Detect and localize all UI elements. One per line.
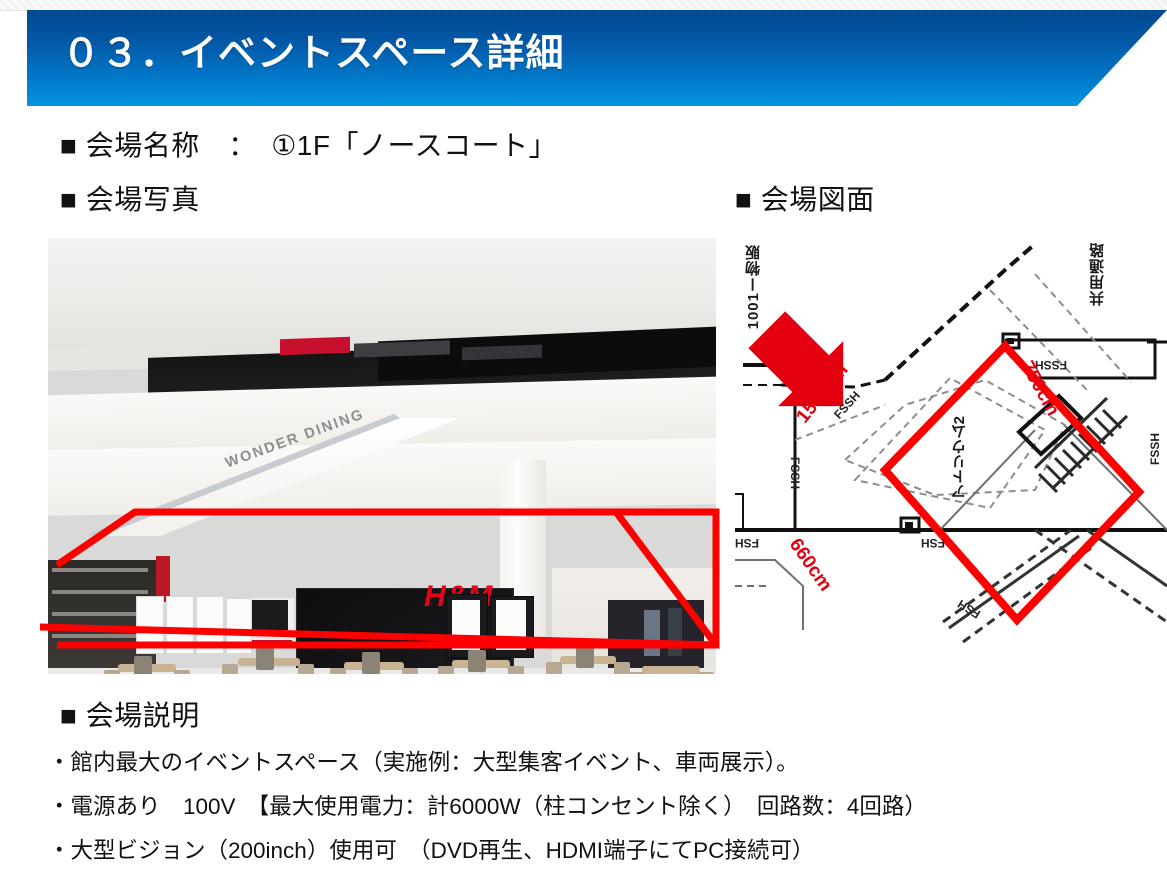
plan-label-common-corridor: 共用通路 xyxy=(1087,242,1108,306)
venue-name-row: ■ 会場名称 ： ①1F「ノースコート」 xyxy=(60,124,557,164)
page-title: ０３．イベントスペース詳細 xyxy=(62,22,564,77)
venue-floor-plan: 1001ー物販 共用通路 アトリウム2 FSSH FSSH FSSH FSSH … xyxy=(735,230,1167,700)
description-line-1: ・館内最大のイベントスペース（実施例：大型集客イベント、車両展示）。 xyxy=(48,745,799,777)
description-line-2: ・電源あり 100V 【最大使用電力：計6000W（柱コンセント除く） 回路数：… xyxy=(48,789,927,821)
plan-label-fsh-3: FSH xyxy=(735,536,759,550)
venue-photo: WONDER DINING H&M xyxy=(48,238,716,674)
plan-label-fssh-4: FSSH xyxy=(1148,433,1162,465)
plan-section-heading: ■ 会場図面 xyxy=(735,178,875,218)
photo-section-heading: ■ 会場写真 xyxy=(60,178,200,218)
plan-label-tenant-1001: 1001ー物販 xyxy=(743,244,764,329)
description-line-3: ・大型ビジョン（200inch）使用可 （DVD再生、HDMI端子にてPC接続可… xyxy=(48,833,814,865)
plan-label-zone: アトリウム2 xyxy=(949,416,970,499)
description-section-heading: ■ 会場説明 xyxy=(60,694,200,734)
plan-label-fssh-2: FSSH xyxy=(788,457,802,489)
photo-sign-red xyxy=(280,337,350,355)
event-space-outline xyxy=(885,346,1139,620)
plan-label-fsh-1: FSH xyxy=(921,536,945,550)
